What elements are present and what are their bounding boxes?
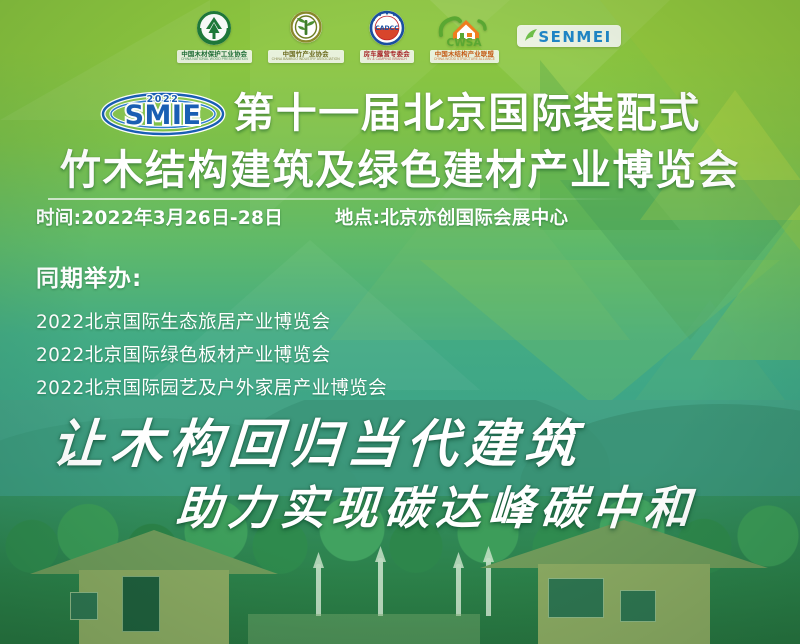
exhibition-poster: 中国木材保护工业协会 CHINA NATIONAL WOOD PRESERVAT… — [0, 0, 800, 644]
logo-cwsa-wood-structure-alliance[interactable]: CWSA 中国木结构产业联盟 CHINA WOOD STRUCTURE ALLI… — [430, 9, 499, 63]
concurrent-event-1[interactable]: 2022北京国际生态旅居产业博览会 — [36, 306, 387, 339]
senmei-wordmark-icon: SENMEI — [515, 19, 623, 53]
logo-caption: 中国木材保护工业协会 CHINA NATIONAL WOOD PRESERVAT… — [177, 50, 252, 63]
event-meta: 时间:2022年3月26日-28日 地点:北京亦创国际会展中心 — [0, 206, 800, 232]
logo-senmei[interactable]: SENMEI — [515, 19, 623, 53]
concurrent-heading: 同期举办: — [36, 262, 387, 296]
wooden-deck — [248, 614, 480, 644]
smie-logo[interactable]: 2022 SMIE — [99, 88, 227, 138]
cwsa-house-icon: CWSA — [433, 9, 495, 49]
title-line-1-row: 2022 SMIE 第十一届北京国际装配式 — [0, 86, 800, 140]
logo-caption: 中国竹产业协会 CHINA BAMBOO INDUSTRY ASSOCIATIO… — [268, 50, 344, 63]
smie-acronym-text: SMIE — [125, 100, 202, 131]
cwsa-acronym-text: CWSA — [447, 37, 483, 49]
concurrent-event-3[interactable]: 2022北京国际园艺及户外家居产业博览会 — [36, 372, 387, 405]
page-title-line-2: 竹木结构建筑及绿色建材产业博览会 — [0, 144, 800, 196]
poster-title-block: 2022 SMIE 第十一届北京国际装配式 竹木结构建筑及绿色建材产业博览会 — [0, 86, 800, 196]
logo-china-wood-preservation[interactable]: 中国木材保护工业协会 CHINA NATIONAL WOOD PRESERVAT… — [177, 9, 252, 63]
logo-caption: 房车露营专委会 RV & CAMPING BRANCH — [360, 50, 414, 63]
organizer-logo-strip: 中国木材保护工业协会 CHINA NATIONAL WOOD PRESERVAT… — [0, 0, 800, 72]
logo-china-bamboo-association[interactable]: 中国竹产业协会 CHINA BAMBOO INDUSTRY ASSOCIATIO… — [268, 9, 344, 63]
patio-umbrella — [316, 564, 321, 616]
logo-caption: 中国木结构产业联盟 CHINA WOOD STRUCTURE ALLIANCE — [430, 50, 499, 63]
bamboo-emblem-icon — [284, 9, 328, 49]
wooden-cabin-left — [36, 524, 272, 644]
slogan-line-1: 让木构回归当代建筑 — [0, 412, 800, 478]
poster-slogan: 让木构回归当代建筑 助力实现碳达峰碳中和 — [0, 412, 800, 538]
event-venue: 地点:北京亦创国际会展中心 — [335, 206, 568, 232]
cabin-window — [70, 592, 98, 620]
title-divider — [48, 198, 628, 200]
cadcc-acronym-text: CADCC — [375, 25, 399, 32]
patio-umbrella — [456, 564, 461, 616]
slogan-line-2: 助力实现碳达峰碳中和 — [0, 478, 800, 538]
cadcc-emblem-icon: CADCC — [364, 9, 410, 49]
page-title-line-1: 第十一届北京国际装配式 — [233, 87, 701, 139]
cabin-window — [548, 578, 604, 618]
wood-preservation-emblem-icon — [191, 9, 237, 49]
concurrent-event-2[interactable]: 2022北京国际绿色板材产业博览会 — [36, 339, 387, 372]
patio-umbrella — [378, 558, 383, 616]
event-date: 时间:2022年3月26日-28日 — [36, 206, 283, 232]
cabin-window — [620, 590, 656, 622]
concurrent-events-block: 同期举办: 2022北京国际生态旅居产业博览会 2022北京国际绿色板材产业博览… — [36, 262, 387, 405]
senmei-text: SENMEI — [538, 28, 611, 46]
smie-logo-icon: 2022 SMIE — [99, 88, 227, 138]
cabin-door — [122, 576, 160, 632]
logo-cadcc-rv-camping[interactable]: CADCC 房车露营专委会 RV & CAMPING BRANCH — [360, 9, 414, 63]
